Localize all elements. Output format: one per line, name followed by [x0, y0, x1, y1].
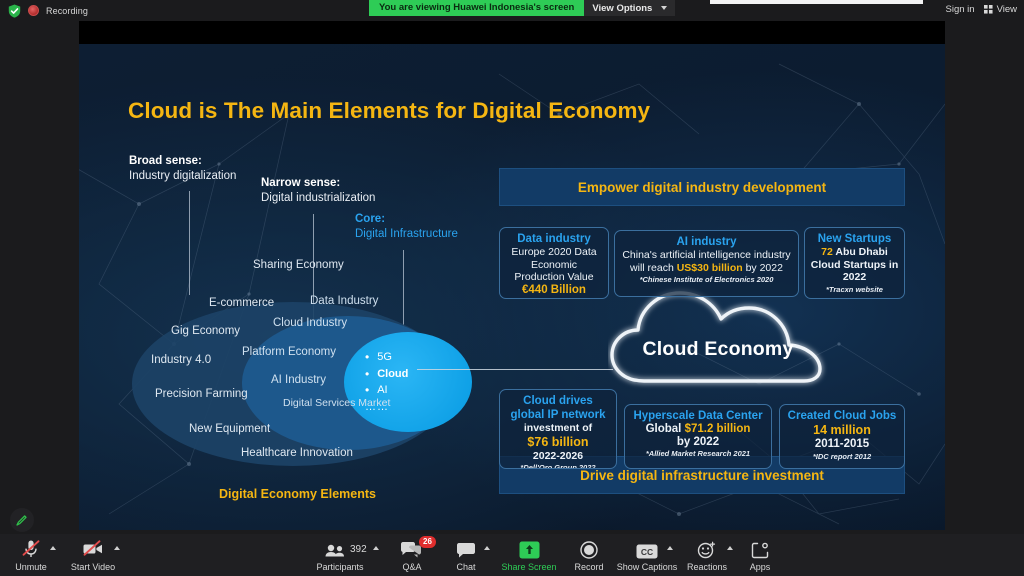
- sign-in-button[interactable]: Sign in: [946, 4, 975, 15]
- view-options-button[interactable]: View Options: [584, 0, 675, 16]
- card-created-cloud-jobs: Created Cloud Jobs 14 million 2011-2015 …: [779, 404, 905, 469]
- ring-label-new-equipment: New Equipment: [189, 423, 270, 435]
- share-notice-pill: You are viewing Huawei Indonesia's scree…: [369, 0, 584, 16]
- card-data-industry-title: Data industry: [505, 232, 603, 246]
- video-chevron-up-icon[interactable]: [114, 546, 120, 550]
- toolbar-show-captions-label: Show Captions: [617, 562, 678, 572]
- card-hyperscale-data-center: Hyperscale Data Center Global $71.2 bill…: [624, 404, 772, 469]
- slide-title: Cloud is The Main Elements for Digital E…: [128, 98, 650, 124]
- card-new-startups-number: 72: [821, 246, 833, 258]
- shield-check-icon[interactable]: [8, 4, 21, 18]
- toolbar-share-screen-label: Share Screen: [501, 562, 556, 572]
- card-new-startups-line2: Cloud Startups in: [810, 259, 899, 272]
- closed-caption-icon: CC: [636, 538, 658, 559]
- card-ai-line2-highlight: US$30 billion: [677, 262, 743, 274]
- view-button[interactable]: View: [984, 4, 1017, 15]
- toolbar-show-captions-button[interactable]: CC Show Captions: [615, 538, 679, 572]
- microphone-muted-icon: [23, 538, 39, 559]
- card-data-industry-line1: Europe 2020 Data: [505, 246, 603, 259]
- leader-line-broad: [189, 191, 190, 295]
- ring-label-precision-farming: Precision Farming: [155, 388, 248, 400]
- ring-label-platform-economy: Platform Economy: [242, 346, 336, 358]
- chevron-down-icon: [661, 6, 667, 10]
- ring-label-ai-industry: AI Industry: [271, 374, 326, 386]
- card-new-startups-rest: Abu Dhabi: [833, 246, 888, 258]
- meeting-status-group: Recording: [0, 4, 88, 18]
- card-cloud-ip-network: Cloud drives global IP network investmen…: [499, 389, 617, 469]
- card-cloud-ip-period: 2022-2026: [505, 450, 611, 463]
- core-item-5g: • 5G: [365, 349, 408, 366]
- top-bar: Recording You are viewing Huawei Indones…: [0, 0, 1024, 21]
- callout-broad-sense-sub: Industry digitalization: [129, 169, 236, 184]
- card-new-startups-source: *Tracxn website: [810, 285, 899, 295]
- participants-chevron-up-icon[interactable]: [373, 546, 379, 550]
- toolbar-start-video-label: Start Video: [71, 562, 115, 572]
- ring-label-ecommerce: E-commerce: [209, 297, 274, 309]
- callout-core-head: Core:: [355, 212, 458, 227]
- bullet-dot-icon: •: [365, 349, 369, 366]
- view-label: View: [997, 4, 1017, 15]
- svg-text:CC: CC: [641, 547, 653, 557]
- card-data-industry-source: *Statista Research 2022: [505, 297, 603, 299]
- card-hyperscale-value: $71.2 billion: [685, 423, 751, 435]
- chat-chevron-up-icon[interactable]: [484, 546, 490, 550]
- callout-broad-sense-head: Broad sense:: [129, 154, 236, 169]
- toolbar-chat-button[interactable]: Chat: [435, 538, 497, 572]
- card-cloud-jobs-value: 14 million: [785, 423, 899, 438]
- core-bullet-list: • 5G • Cloud • AI ……: [365, 349, 408, 415]
- chat-icon: [456, 538, 476, 559]
- toolbar-unmute-button[interactable]: Unmute: [0, 538, 62, 572]
- card-new-startups: New Startups 72 Abu Dhabi Cloud Startups…: [804, 227, 905, 299]
- annotate-pen-button[interactable]: [10, 508, 34, 532]
- core-item-cloud: • Cloud: [365, 366, 408, 383]
- core-item-5g-label: 5G: [377, 349, 392, 366]
- card-cloud-ip-title-line1: Cloud drives: [505, 394, 611, 408]
- card-cloud-ip-source: *Dell'Oro Group 2022: [505, 463, 611, 469]
- captions-chevron-up-icon[interactable]: [667, 546, 673, 550]
- card-ai-industry: AI industry China's artificial intellige…: [614, 230, 799, 297]
- qa-unread-badge: 26: [419, 536, 436, 548]
- toolbar-apps-label: Apps: [750, 562, 771, 572]
- digital-economy-elements-caption: Digital Economy Elements: [219, 487, 376, 501]
- callout-core-sub: Digital Infrastructure: [355, 227, 458, 242]
- card-ai-industry-title: AI industry: [620, 235, 793, 249]
- toolbar-chat-label: Chat: [456, 562, 475, 572]
- card-ai-industry-line2: will reach US$30 billion by 2022: [620, 262, 793, 275]
- sign-in-label: Sign in: [946, 4, 975, 15]
- card-hyperscale-pre: Global: [646, 423, 685, 435]
- card-cloud-ip-value: $76 billion: [505, 435, 611, 450]
- toolbar-share-screen-button[interactable]: Share Screen: [498, 538, 560, 572]
- meeting-toolbar: Unmute Start Video: [0, 534, 1024, 576]
- card-cloud-ip-sub: investment of: [505, 422, 611, 435]
- view-options-label: View Options: [592, 3, 652, 14]
- ring-label-industry-40: Industry 4.0: [151, 354, 211, 366]
- toolbar-reactions-label: Reactions: [687, 562, 727, 572]
- reactions-icon: [697, 538, 717, 559]
- toolbar-qa-label: Q&A: [402, 562, 421, 572]
- card-data-industry: Data industry Europe 2020 Data Economic …: [499, 227, 609, 299]
- connector-line-cloud: [417, 369, 613, 370]
- participants-count: 392: [350, 544, 367, 555]
- core-item-ai-label: AI: [377, 382, 387, 399]
- toolbar-record-label: Record: [574, 562, 603, 572]
- banner-empower-digital-industry: Empower digital industry development: [499, 168, 905, 206]
- screen-share-indicator: You are viewing Huawei Indonesia's scree…: [369, 0, 675, 16]
- apps-icon: [751, 538, 769, 559]
- toolbar-record-button[interactable]: Record: [558, 538, 620, 572]
- grid-view-icon: [984, 5, 993, 14]
- card-data-industry-line3: Production Value: [505, 271, 603, 284]
- callout-narrow-sense-head: Narrow sense:: [261, 176, 375, 191]
- toolbar-participants-label: Participants: [316, 562, 363, 572]
- callout-broad-sense: Broad sense: Industry digitalization: [129, 154, 236, 183]
- card-hyperscale-source: *Allied Market Research 2021: [630, 449, 766, 459]
- card-ai-industry-line1: China's artificial intelligence industry: [620, 249, 793, 262]
- pen-icon: [15, 513, 29, 527]
- ring-label-gig-economy: Gig Economy: [171, 325, 240, 337]
- ring-label-sharing-economy: Sharing Economy: [253, 259, 344, 271]
- record-icon: [580, 538, 598, 559]
- card-new-startups-line1: 72 Abu Dhabi: [810, 246, 899, 259]
- presentation-slide: Cloud is The Main Elements for Digital E…: [79, 44, 945, 530]
- card-hyperscale-line2: by 2022: [630, 436, 766, 449]
- ring-label-data-industry: Data Industry: [310, 295, 378, 307]
- ring-label-healthcare-innovation: Healthcare Innovation: [241, 447, 353, 459]
- card-data-industry-line2: Economic: [505, 259, 603, 272]
- core-item-ai: • AI: [365, 382, 408, 399]
- top-bar-right-group: Sign in View: [946, 4, 1017, 15]
- record-dot-icon[interactable]: [28, 5, 39, 16]
- bullet-dot-icon: •: [365, 382, 369, 399]
- card-cloud-ip-title-line2: global IP network: [505, 408, 611, 422]
- card-cloud-jobs-period: 2011-2015: [785, 438, 899, 451]
- card-cloud-jobs-title: Created Cloud Jobs: [785, 409, 899, 423]
- share-screen-icon: [519, 538, 540, 559]
- cloud-economy-graphic: Cloud Economy: [608, 283, 828, 393]
- core-ellipsis: ……: [365, 399, 408, 416]
- card-hyperscale-title: Hyperscale Data Center: [630, 409, 766, 423]
- card-new-startups-title: New Startups: [810, 232, 899, 246]
- toolbar-apps-button[interactable]: Apps: [729, 538, 791, 572]
- core-item-cloud-label: Cloud: [377, 366, 408, 383]
- shared-screen-stage: Cloud is The Main Elements for Digital E…: [79, 21, 945, 530]
- unmute-chevron-up-icon[interactable]: [50, 546, 56, 550]
- card-ai-line2-post: by 2022: [743, 262, 783, 274]
- callout-core: Core: Digital Infrastructure: [355, 212, 458, 241]
- video-muted-icon: [82, 538, 104, 559]
- toolbar-unmute-label: Unmute: [15, 562, 47, 572]
- card-data-industry-value: €440 Billion: [505, 284, 603, 296]
- ring-label-cloud-industry: Cloud Industry: [273, 317, 347, 329]
- card-ai-industry-source: *Chinese Institute of Electronics 2020: [620, 275, 793, 285]
- recording-label: Recording: [46, 6, 88, 16]
- card-new-startups-line3: 2022: [810, 271, 899, 284]
- card-ai-line2-pre: will reach: [630, 262, 677, 274]
- zoom-meeting-window: Recording You are viewing Huawei Indones…: [0, 0, 1024, 576]
- callout-narrow-sense: Narrow sense: Digital industrialization: [261, 176, 375, 205]
- callout-narrow-sense-sub: Digital industrialization: [261, 191, 375, 206]
- window-edge-decoration: [710, 0, 923, 4]
- bullet-dot-icon: •: [365, 366, 369, 383]
- card-cloud-jobs-source: *IDC report 2012: [785, 452, 899, 462]
- toolbar-start-video-button[interactable]: Start Video: [62, 538, 124, 572]
- card-hyperscale-line1: Global $71.2 billion: [630, 423, 766, 436]
- cloud-economy-label: Cloud Economy: [608, 283, 828, 393]
